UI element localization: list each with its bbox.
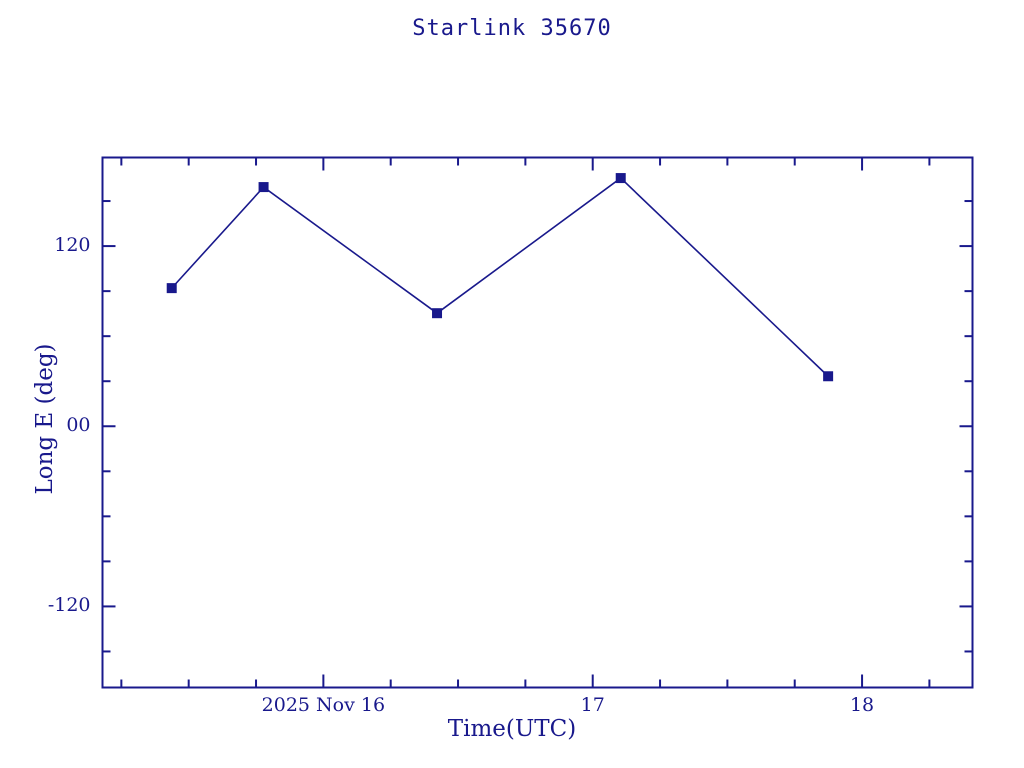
chart-page: Starlink 35670 Time(UTC) Long E (deg) 12… [0, 0, 1024, 768]
x-axis-title: Time(UTC) [0, 716, 1024, 742]
data-series-line [172, 178, 828, 376]
data-point-marker [259, 183, 268, 192]
y-tick-label: -120 [11, 594, 91, 616]
axis-ticks [103, 158, 973, 688]
plot-frame [103, 158, 973, 688]
x-tick-label: 2025 Nov 16 [203, 694, 443, 716]
data-point-markers [167, 174, 832, 381]
x-tick-label: 17 [473, 694, 713, 716]
plot-area [0, 0, 1024, 768]
y-tick-label: 00 [11, 414, 91, 436]
data-point-marker [616, 174, 625, 183]
data-point-marker [824, 372, 833, 381]
y-tick-label: 120 [11, 234, 91, 256]
x-tick-label: 18 [742, 694, 982, 716]
data-point-marker [433, 309, 442, 318]
data-point-marker [167, 284, 176, 293]
